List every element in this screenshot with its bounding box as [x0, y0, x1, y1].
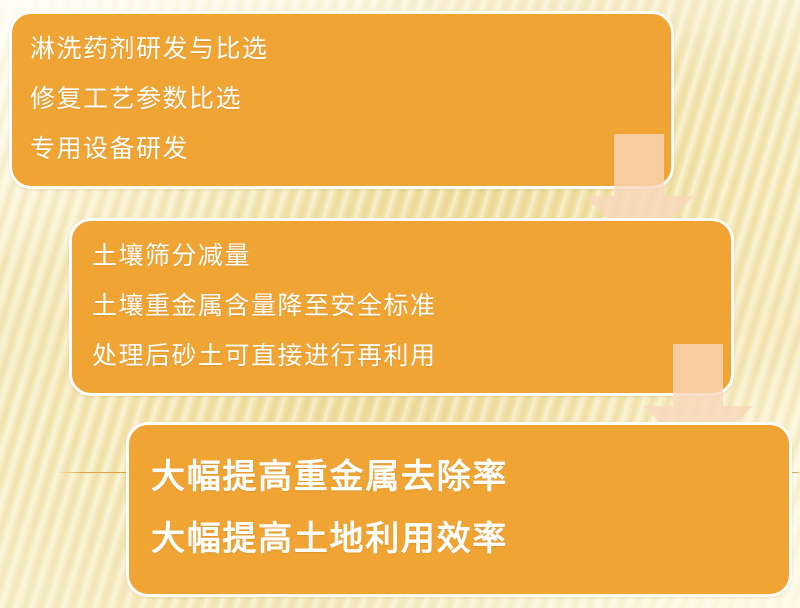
- final-benefit-panel[interactable]: 大幅提高重金属去除率 大幅提高土地利用效率: [126, 422, 792, 597]
- panel-3-line-2: 大幅提高土地利用效率: [151, 522, 789, 558]
- connector-rule-right: [791, 472, 800, 473]
- panel-1-line-2: 修复工艺参数比选: [30, 87, 671, 113]
- research-development-panel[interactable]: 淋洗药剂研发与比选 修复工艺参数比选 专用设备研发: [9, 11, 674, 189]
- panel-3-text-block: 大幅提高重金属去除率 大幅提高土地利用效率: [129, 425, 789, 594]
- panel-1-line-3: 专用设备研发: [30, 137, 671, 163]
- panel-1-line-1: 淋洗药剂研发与比选: [30, 37, 671, 63]
- connector-rule-left: [57, 472, 127, 473]
- panel-3-line-1: 大幅提高重金属去除率: [151, 460, 789, 496]
- panel-2-line-2: 土壤重金属含量降至安全标准: [92, 294, 731, 320]
- panel-2-line-3: 处理后砂土可直接进行再利用: [92, 344, 731, 370]
- panel-2-line-1: 土壤筛分减量: [92, 244, 731, 270]
- slide-canvas: 淋洗药剂研发与比选 修复工艺参数比选 专用设备研发 土壤筛分减量 土壤重金属含量…: [0, 0, 800, 608]
- panel-1-text-block: 淋洗药剂研发与比选 修复工艺参数比选 专用设备研发: [12, 14, 671, 186]
- treatment-outcome-panel[interactable]: 土壤筛分减量 土壤重金属含量降至安全标准 处理后砂土可直接进行再利用: [69, 218, 734, 396]
- panel-2-text-block: 土壤筛分减量 土壤重金属含量降至安全标准 处理后砂土可直接进行再利用: [72, 221, 731, 393]
